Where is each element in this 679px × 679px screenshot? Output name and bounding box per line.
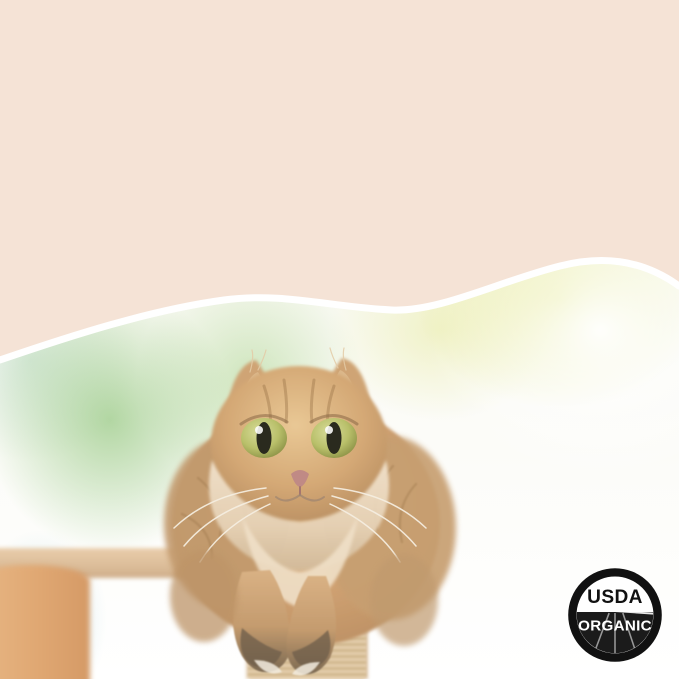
benefit-label: 24x greater absorption than standard ext… — [80, 120, 629, 151]
checkmark-icon — [18, 37, 62, 81]
usda-organic-seal: USDA ORGANIC — [566, 566, 664, 664]
cat-illustration — [138, 328, 478, 679]
benefits-list: promotes a healthy immune response 24x g… — [0, 0, 679, 300]
product-benefits-card: promotes a healthy immune response 24x g… — [0, 0, 679, 679]
usda-seal-top-text: USDA — [587, 587, 643, 608]
benefit-item: 24x greater absorption than standard ext… — [0, 111, 679, 159]
benefit-item: supports comfortable, flexible movement — [0, 183, 679, 231]
checkmark-icon — [18, 113, 62, 157]
usda-seal-bottom-text: ORGANIC — [578, 618, 652, 635]
cat-tree-post-left — [0, 565, 90, 679]
benefit-label: promotes a healthy immune response — [80, 44, 535, 75]
benefit-item: promotes a healthy immune response — [0, 35, 679, 83]
benefit-label: supports comfortable, flexible movement — [80, 192, 569, 223]
checkmark-icon — [18, 185, 62, 229]
